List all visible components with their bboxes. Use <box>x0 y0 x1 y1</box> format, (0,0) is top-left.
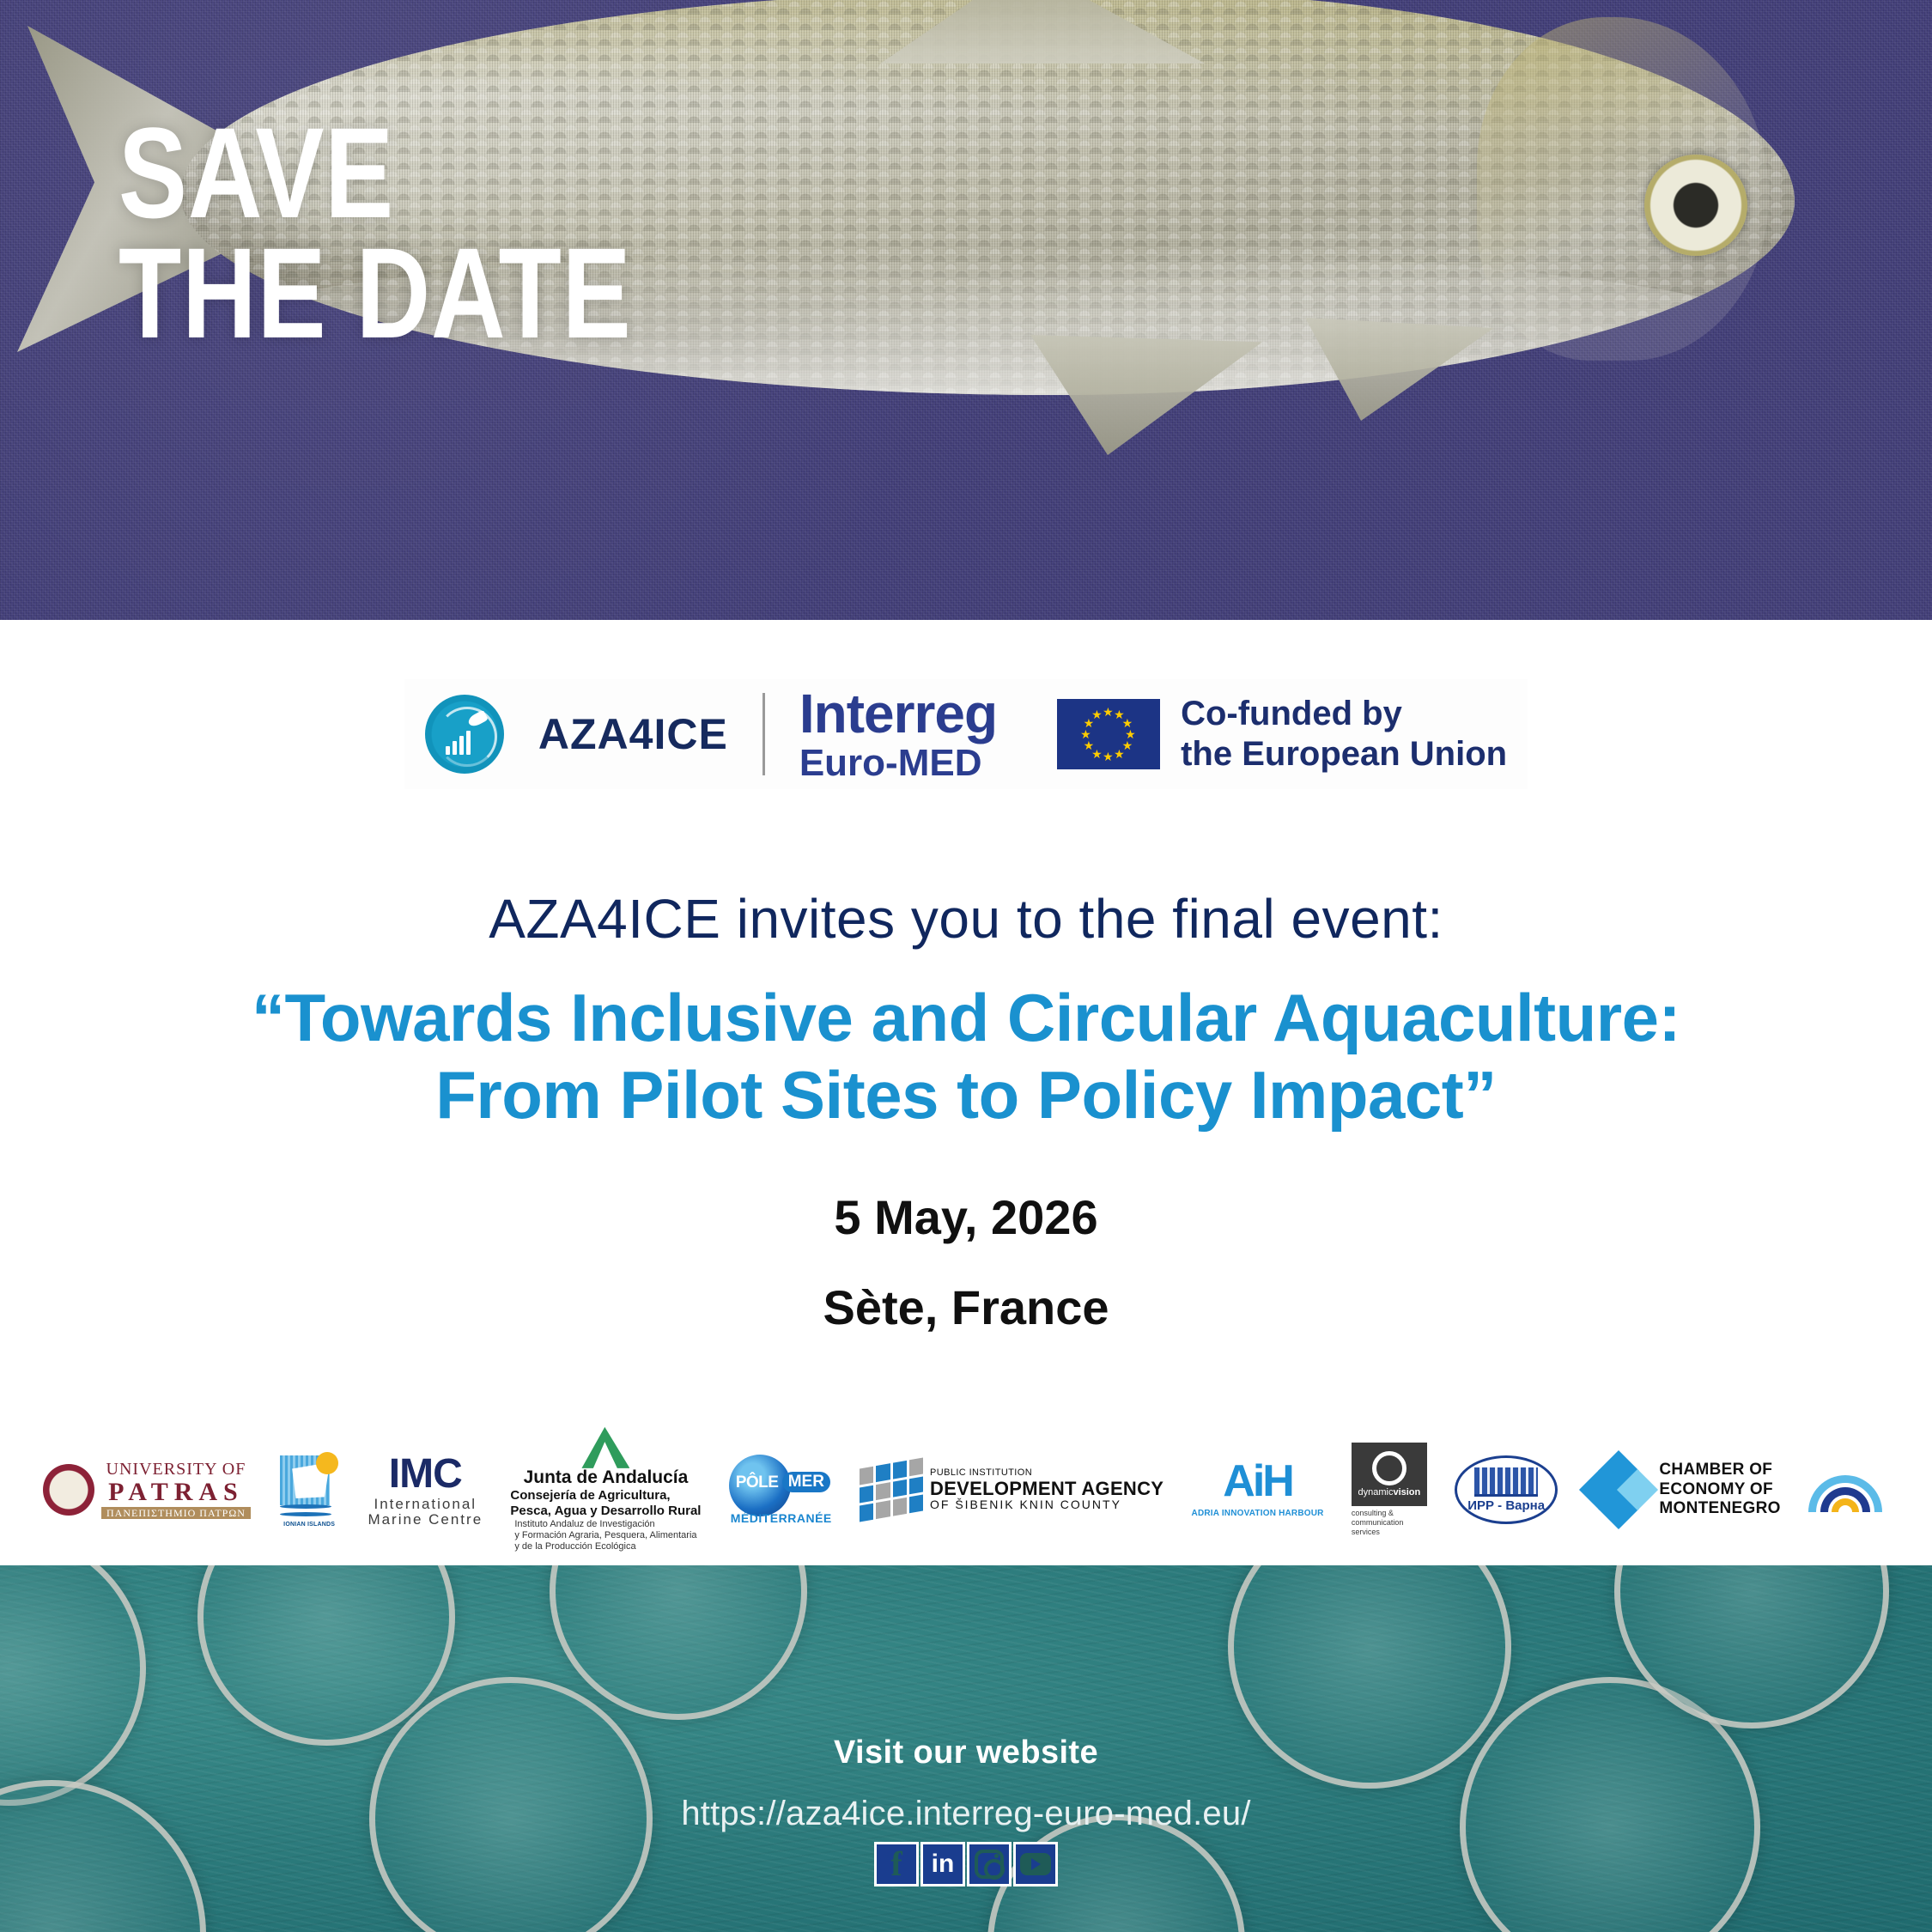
logo-divider <box>762 693 765 775</box>
montenegro-diamond-icon <box>1585 1456 1652 1523</box>
website-url[interactable]: https://aza4ice.interreg-euro-med.eu/ <box>0 1795 1932 1833</box>
sibenik-line2: DEVELOPMENT AGENCY <box>930 1479 1163 1499</box>
pole-label: PÔLE <box>736 1473 779 1492</box>
montenegro-line2: ECONOMY OF <box>1659 1480 1773 1500</box>
european-union-flag-icon: ★★★★★★★★★★★★ <box>1057 699 1160 769</box>
junta-line3: Instituto Andaluz de Investigación y For… <box>514 1519 696 1553</box>
visit-website-label: Visit our website <box>0 1735 1932 1771</box>
patras-line2: PATRAS <box>108 1479 244 1506</box>
imc-wordmark: IMC <box>389 1452 462 1497</box>
partner-logo-development-agency-sibenik-knin: PUBLIC INSTITUTION DEVELOPMENT AGENCY OF… <box>860 1463 1163 1516</box>
patras-seal-icon <box>43 1464 94 1516</box>
junta-line2: Consejería de Agricultura, Pesca, Agua y… <box>510 1488 701 1519</box>
linkedin-icon[interactable]: in <box>920 1842 965 1886</box>
sibenik-grid-icon <box>860 1457 923 1522</box>
eu-text-line1: Co-funded by <box>1181 694 1507 734</box>
patras-line1: UNIVERSITY OF <box>106 1461 246 1479</box>
dynamicvision-tagline: consulting & communication services <box>1352 1509 1427 1538</box>
programme-logo-bar: AZA4ICE Interreg Euro-MED ★★★★★★★★★★★★ C… <box>0 653 1932 816</box>
montenegro-line1: CHAMBER OF <box>1659 1461 1772 1480</box>
event-title-line-1: “Towards Inclusive and Circular Aquacult… <box>0 979 1932 1056</box>
partner-logo-junta-de-andalucia: Junta de Andalucía Consejería de Agricul… <box>510 1427 701 1552</box>
aza4ice-wordmark: AZA4ICE <box>538 709 728 759</box>
varna-label: ИРР - Варна <box>1467 1498 1545 1513</box>
partner-logo-imc: IMC International Marine Centre <box>368 1452 483 1528</box>
ionian-label: IONIAN ISLANDS <box>282 1522 337 1528</box>
dynamicvision-wordmark: dynamicvision <box>1358 1487 1420 1498</box>
partner-logo-region-of-ionian-islands: IONIAN ISLANDS <box>278 1452 340 1528</box>
eu-star-icon: ★ <box>1114 748 1125 760</box>
aza4ice-circle-icon <box>425 695 504 774</box>
save-the-date-headline: SAVE THE DATE <box>118 113 632 353</box>
eu-text-line2: the European Union <box>1181 734 1507 775</box>
interreg-wordmark: Interreg <box>799 688 997 740</box>
event-location: Sète, France <box>0 1279 1932 1335</box>
instagram-icon[interactable] <box>967 1842 1012 1886</box>
partner-logo-university-of-patras: UNIVERSITY OF PATRAS ΠΑΝΕΠΙΣΤΗΜΙΟ ΠΑΤΡΩΝ <box>43 1461 251 1520</box>
mediterranee-label: MÉDITERRANÉE <box>731 1511 832 1525</box>
ipma-arc-icon <box>1808 1467 1882 1512</box>
ionian-islands-icon: IONIAN ISLANDS <box>278 1452 340 1528</box>
youtube-icon[interactable] <box>1013 1842 1058 1886</box>
imc-line3: Marine Centre <box>368 1512 483 1528</box>
partner-logos-row: UNIVERSITY OF PATRAS ΠΑΝΕΠΙΣΤΗΜΙΟ ΠΑΤΡΩΝ… <box>43 1425 1889 1554</box>
social-links: f in <box>0 1842 1932 1886</box>
event-title-line-2: From Pilot Sites to Policy Impact” <box>0 1056 1932 1133</box>
sibenik-line3: OF ŠIBENIK KNIN COUNTY <box>930 1498 1121 1511</box>
dynamicvision-icon: dynamicvision <box>1352 1443 1427 1506</box>
eu-star-icon: ★ <box>1103 706 1114 718</box>
save-the-date-poster: SAVE THE DATE AZA4ICE Interreg Euro-MED … <box>0 0 1932 1932</box>
aza-fish-icon <box>466 710 489 729</box>
event-title: “Towards Inclusive and Circular Aquacult… <box>0 979 1932 1134</box>
partner-logo-irr-varna: ИРР - Варна <box>1455 1455 1558 1524</box>
sibenik-line1: PUBLIC INSTITUTION <box>930 1468 1032 1479</box>
varna-icon: ИРР - Варна <box>1455 1455 1558 1524</box>
fish-eye <box>1644 155 1747 256</box>
imc-line2: International <box>374 1497 477 1512</box>
partner-logo-pole-mer-mediterranee: PÔLE MER MÉDITERRANÉE <box>729 1453 832 1527</box>
eu-cofunding-logo: ★★★★★★★★★★★★ Co-funded by the European U… <box>1057 694 1507 775</box>
montenegro-line3: MONTENEGRO <box>1659 1499 1780 1519</box>
junta-line1: Junta de Andalucía <box>524 1468 689 1488</box>
partner-logo-ipma <box>1808 1467 1889 1512</box>
mer-label: MER <box>782 1472 830 1492</box>
partner-logo-adria-innovation-harbour: AiH ADRIA INNOVATION HARBOUR <box>1192 1461 1324 1518</box>
interreg-logo: Interreg Euro-MED <box>799 688 997 781</box>
eu-star-icon: ★ <box>1080 728 1091 740</box>
eu-star-icon: ★ <box>1084 739 1095 751</box>
facebook-icon[interactable]: f <box>874 1842 919 1886</box>
event-date: 5 May, 2026 <box>0 1189 1932 1245</box>
pole-mer-icon: PÔLE MER MÉDITERRANÉE <box>729 1453 832 1527</box>
eu-cofunding-text: Co-funded by the European Union <box>1181 694 1507 775</box>
aih-monogram: AiH <box>1223 1461 1292 1502</box>
partner-logo-dynamicvision: dynamicvision consulting & communication… <box>1352 1443 1427 1538</box>
interreg-programme-name: Euro-MED <box>799 745 997 781</box>
patras-line3: ΠΑΝΕΠΙΣΤΗΜΙΟ ΠΑΤΡΩΝ <box>101 1507 251 1520</box>
partner-logo-chamber-of-economy-of-montenegro: CHAMBER OF ECONOMY OF MONTENEGRO <box>1585 1456 1780 1523</box>
invite-line: AZA4ICE invites you to the final event: <box>0 887 1932 951</box>
andalucia-a-icon <box>581 1427 629 1468</box>
aih-label: ADRIA INNOVATION HARBOUR <box>1192 1509 1324 1518</box>
eu-star-icon: ★ <box>1103 750 1114 762</box>
hero-fish-banner: SAVE THE DATE <box>0 0 1932 620</box>
eu-star-icon: ★ <box>1091 708 1103 720</box>
dynamicvision-ring-icon <box>1372 1451 1406 1485</box>
aza-chart-bars-icon <box>446 731 471 755</box>
